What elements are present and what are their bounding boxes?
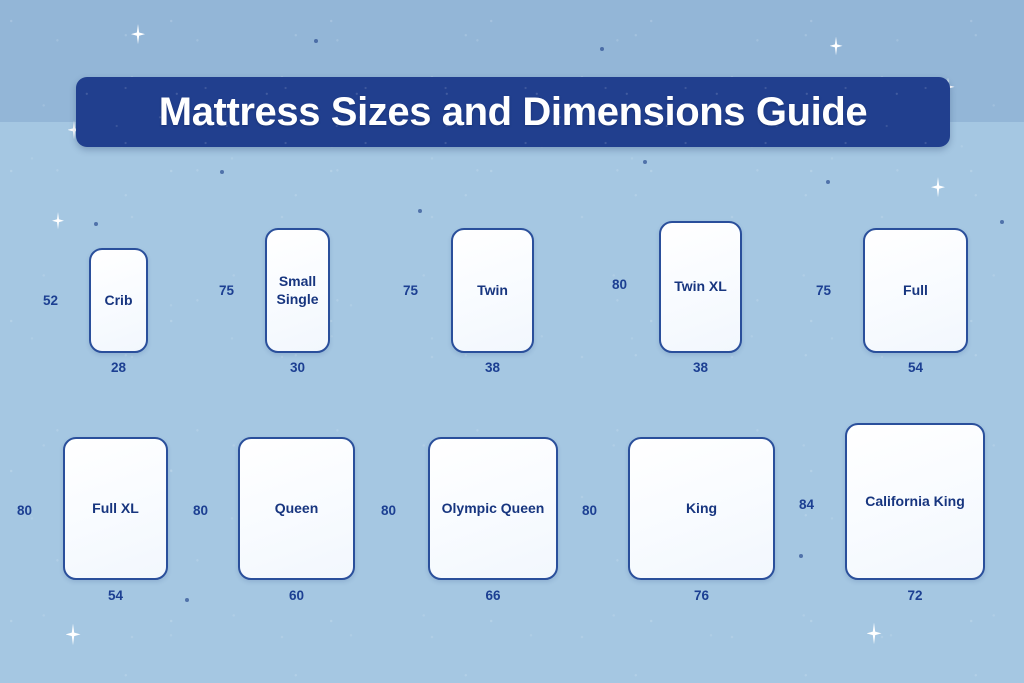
width-dimension-crib: 28 [89, 360, 148, 375]
mattress-card-twin-xl[interactable]: Twin XL [659, 221, 742, 353]
mattress-card-california-king[interactable]: California King [845, 423, 985, 580]
width-dimension-small-single: 30 [265, 360, 330, 375]
mattress-label-olympic-queen: Olympic Queen [438, 500, 549, 517]
width-dimension-olympic-queen: 66 [428, 588, 558, 603]
height-dimension-crib: 52 [32, 293, 58, 308]
mattress-label-california-king: California King [861, 493, 969, 510]
height-dimension-queen: 80 [182, 503, 208, 518]
mattress-label-full-xl: Full XL [88, 500, 143, 517]
mattress-label-small-single: Small Single [272, 273, 322, 307]
height-dimension-small-single: 75 [208, 283, 234, 298]
mattress-card-queen[interactable]: Queen [238, 437, 355, 580]
mattress-card-crib[interactable]: Crib [89, 248, 148, 353]
mattress-card-small-single[interactable]: Small Single [265, 228, 330, 353]
mattress-card-full[interactable]: Full [863, 228, 968, 353]
mattress-label-twin: Twin [473, 282, 512, 299]
mattress-card-full-xl[interactable]: Full XL [63, 437, 168, 580]
mattress-size-guide-poster: Mattress Sizes and Dimensions Guide Crib… [0, 0, 1024, 683]
width-dimension-queen: 60 [238, 588, 355, 603]
mattress-label-crib: Crib [101, 292, 137, 309]
mattress-card-twin[interactable]: Twin [451, 228, 534, 353]
width-dimension-full: 54 [863, 360, 968, 375]
height-dimension-full: 75 [805, 283, 831, 298]
height-dimension-king: 80 [571, 503, 597, 518]
height-dimension-full-xl: 80 [6, 503, 32, 518]
mattress-label-twin-xl: Twin XL [670, 278, 731, 295]
width-dimension-full-xl: 54 [63, 588, 168, 603]
height-dimension-olympic-queen: 80 [370, 503, 396, 518]
page-title: Mattress Sizes and Dimensions Guide [159, 90, 867, 135]
height-dimension-twin-xl: 80 [601, 277, 627, 292]
width-dimension-california-king: 72 [845, 588, 985, 603]
mattress-card-king[interactable]: King [628, 437, 775, 580]
mattress-card-olympic-queen[interactable]: Olympic Queen [428, 437, 558, 580]
mattress-label-king: King [682, 500, 721, 517]
mattress-label-full: Full [899, 282, 932, 299]
width-dimension-king: 76 [628, 588, 775, 603]
width-dimension-twin: 38 [451, 360, 534, 375]
width-dimension-twin-xl: 38 [659, 360, 742, 375]
height-dimension-california-king: 84 [788, 497, 814, 512]
mattress-label-queen: Queen [271, 500, 323, 517]
title-banner: Mattress Sizes and Dimensions Guide [76, 77, 950, 147]
height-dimension-twin: 75 [392, 283, 418, 298]
